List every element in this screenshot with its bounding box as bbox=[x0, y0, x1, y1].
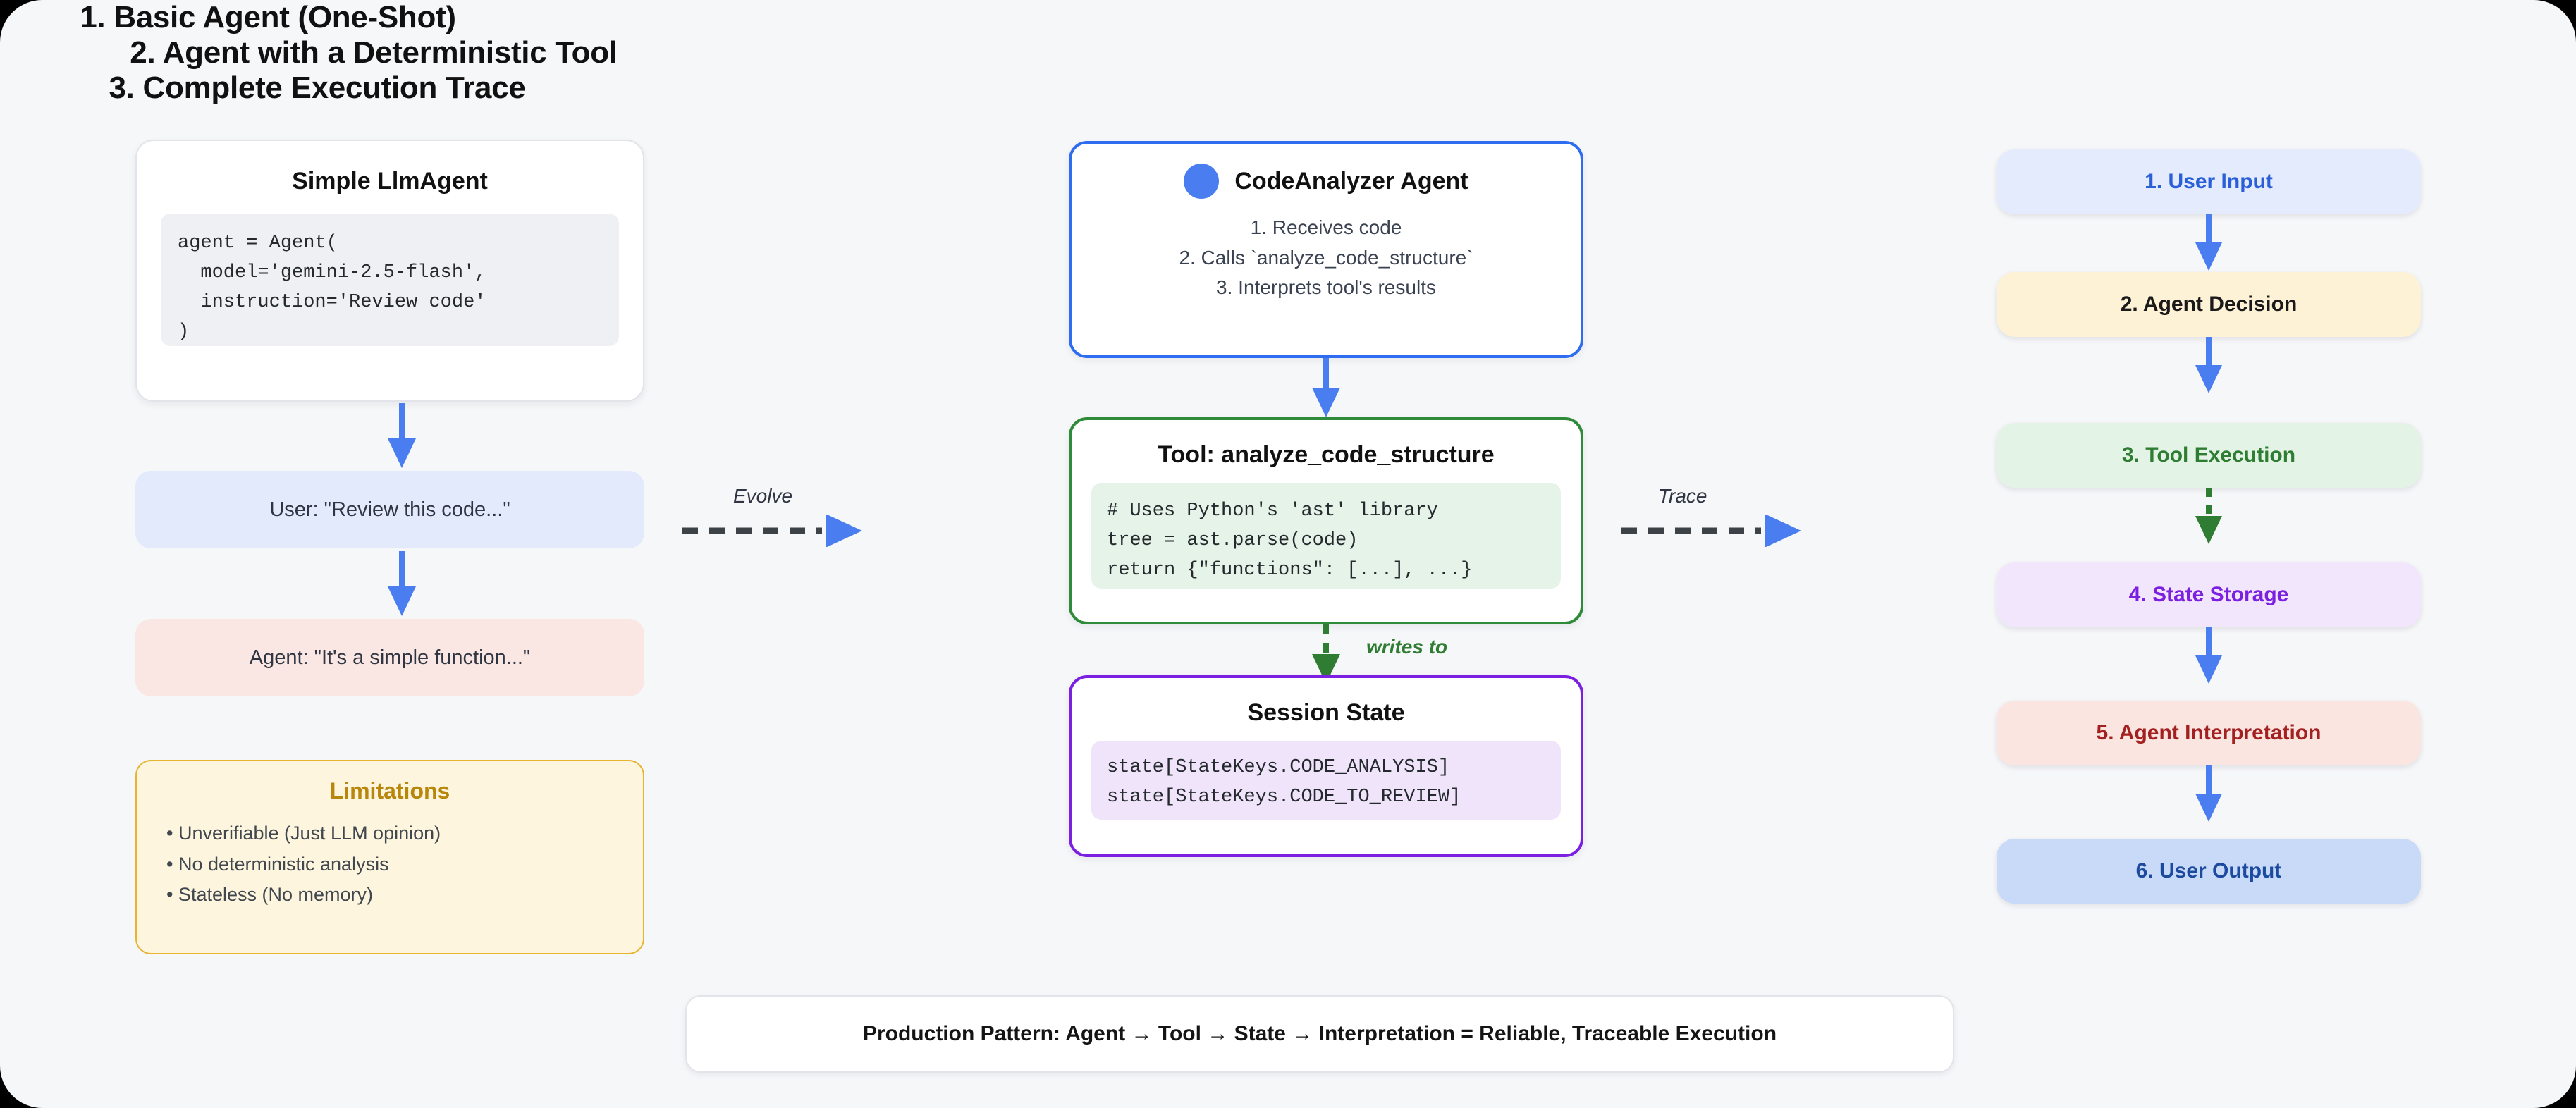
limitation-item: • No deterministic analysis bbox=[166, 849, 613, 880]
trace-connector-arrow bbox=[1621, 515, 1805, 547]
code-analyzer-header: CodeAnalyzer Agent bbox=[1093, 164, 1559, 199]
agent-step: 3. Interprets tool's results bbox=[1093, 273, 1559, 303]
production-pattern-banner: Production Pattern: Agent → Tool → State… bbox=[685, 995, 1954, 1073]
code-analyzer-title: CodeAnalyzer Agent bbox=[1234, 168, 1468, 195]
tool-card-title: Tool: analyze_code_structure bbox=[1091, 441, 1561, 469]
arrow-trace-4-to-5 bbox=[2191, 627, 2226, 685]
simple-llm-agent-card: Simple LlmAgent agent = Agent( model='ge… bbox=[135, 140, 644, 402]
arrow-trace-1-to-2 bbox=[2191, 214, 2226, 272]
arrow-trace-2-to-3 bbox=[2191, 337, 2226, 395]
column-1-title: 1. Basic Agent (One-Shot) bbox=[0, 0, 536, 35]
trace-step-label: 4. State Storage bbox=[2129, 583, 2289, 607]
tool-card-code: # Uses Python's 'ast' library tree = ast… bbox=[1091, 483, 1561, 589]
evolve-label: Evolve bbox=[733, 485, 792, 507]
trace-step-label: 1. User Input bbox=[2145, 170, 2273, 194]
session-state-card: Session State state[StateKeys.CODE_ANALY… bbox=[1069, 675, 1583, 857]
arrow-agent-to-user bbox=[384, 403, 419, 471]
session-state-title: Session State bbox=[1091, 699, 1561, 727]
user-message-text: User: "Review this code..." bbox=[269, 498, 510, 522]
agent-message-text: Agent: "It's a simple function..." bbox=[250, 646, 530, 670]
arrow-agent-to-tool bbox=[1308, 358, 1344, 419]
simple-llm-agent-code: agent = Agent( model='gemini-2.5-flash',… bbox=[161, 214, 619, 346]
session-state-code: state[StateKeys.CODE_ANALYSIS] state[Sta… bbox=[1091, 741, 1561, 820]
trace-step-6: 6. User Output bbox=[1997, 839, 2421, 904]
agent-step: 1. Receives code bbox=[1093, 213, 1559, 243]
arrow-trace-5-to-6 bbox=[2191, 765, 2226, 823]
agent-circle-icon bbox=[1184, 164, 1219, 199]
limitations-list: • Unverifiable (Just LLM opinion) • No d… bbox=[166, 818, 613, 911]
trace-label: Trace bbox=[1658, 485, 1707, 507]
trace-step-3: 3. Tool Execution bbox=[1997, 423, 2421, 488]
trace-step-5: 5. Agent Interpretation bbox=[1997, 701, 2421, 765]
agent-message-bubble: Agent: "It's a simple function..." bbox=[135, 619, 644, 696]
evolve-connector-arrow bbox=[682, 515, 866, 547]
agent-step: 2. Calls `analyze_code_structure` bbox=[1093, 243, 1559, 273]
trace-step-label: 6. User Output bbox=[2136, 859, 2282, 883]
arrow-user-to-agent-reply bbox=[384, 551, 419, 619]
user-message-bubble: User: "Review this code..." bbox=[135, 471, 644, 548]
arrow-trace-3-to-4 bbox=[2191, 488, 2226, 546]
trace-step-2: 2. Agent Decision bbox=[1997, 272, 2421, 337]
limitations-title: Limitations bbox=[166, 778, 613, 804]
column-3-title: 3. Complete Execution Trace bbox=[0, 70, 634, 106]
writes-to-label: writes to bbox=[1366, 636, 1447, 658]
column-2-title: 2. Agent with a Deterministic Tool bbox=[0, 35, 747, 70]
simple-llm-agent-title: Simple LlmAgent bbox=[161, 168, 619, 195]
trace-step-4: 4. State Storage bbox=[1997, 562, 2421, 627]
limitation-item: • Stateless (No memory) bbox=[166, 880, 613, 911]
trace-step-label: 2. Agent Decision bbox=[2121, 293, 2298, 316]
trace-step-label: 3. Tool Execution bbox=[2122, 443, 2295, 467]
production-pattern-text: Production Pattern: Agent → Tool → State… bbox=[863, 1022, 1777, 1046]
trace-step-label: 5. Agent Interpretation bbox=[2097, 721, 2322, 745]
diagram-canvas: 1. Basic Agent (One-Shot) Simple LlmAgen… bbox=[0, 0, 2576, 1108]
limitation-item: • Unverifiable (Just LLM opinion) bbox=[166, 818, 613, 849]
code-analyzer-steps: 1. Receives code 2. Calls `analyze_code_… bbox=[1093, 213, 1559, 303]
tool-card: Tool: analyze_code_structure # Uses Pyth… bbox=[1069, 417, 1583, 624]
code-analyzer-agent-card: CodeAnalyzer Agent 1. Receives code 2. C… bbox=[1069, 141, 1583, 358]
trace-step-1: 1. User Input bbox=[1997, 149, 2421, 214]
limitations-card: Limitations • Unverifiable (Just LLM opi… bbox=[135, 760, 644, 954]
